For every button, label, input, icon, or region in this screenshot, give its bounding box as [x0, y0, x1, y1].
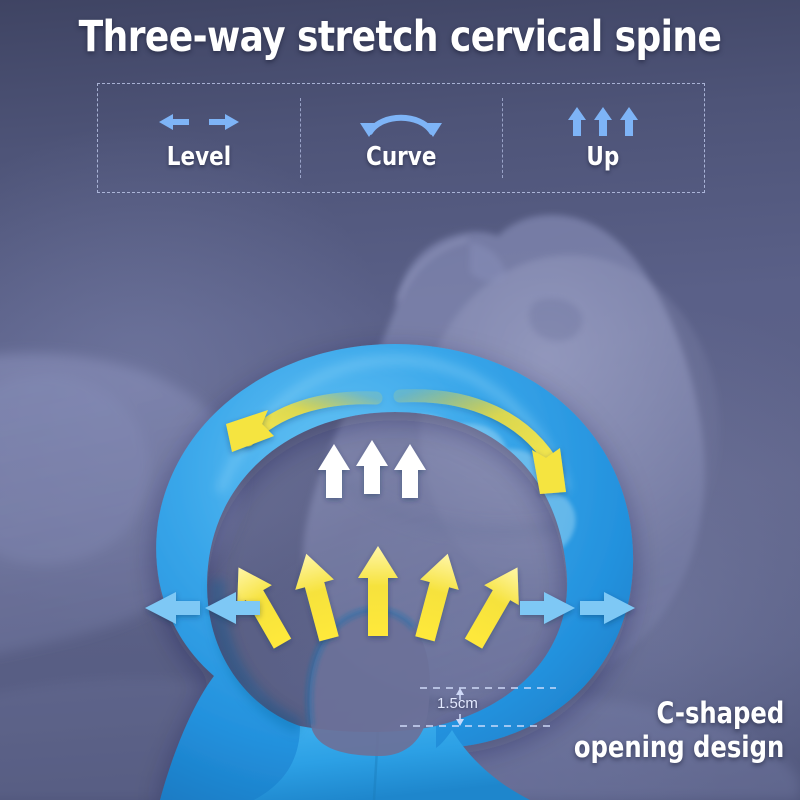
- brow-line: [398, 240, 468, 300]
- pillow-rim-highlight: [220, 360, 566, 492]
- mattress-shape: [0, 678, 260, 800]
- pillow-base: [254, 726, 530, 800]
- ambient-glow-left: [0, 120, 400, 640]
- neck-lift-arrows-icon: [318, 440, 426, 498]
- feature-badge-label: Curve: [366, 142, 436, 172]
- support-fan-arrows-icon: [221, 546, 535, 654]
- cervical-vertebrae-graphic: [238, 415, 575, 614]
- opening-edge-shadow: [309, 610, 414, 726]
- feature-badge-label: Up: [587, 142, 620, 172]
- page-title: Three-way stretch cervical spine: [28, 8, 772, 66]
- stretch-curve-arrows-icon: [226, 396, 566, 494]
- head-profile-shape: [303, 215, 720, 701]
- c-shaped-opening: [309, 610, 429, 756]
- left-right-arrows-icon: [153, 104, 245, 140]
- caption-line-2: opening design: [574, 730, 784, 764]
- caption-line-1: C-shaped: [574, 696, 784, 730]
- feature-badge-curve[interactable]: Curve: [300, 84, 502, 192]
- level-right-arrows-icon: [520, 592, 635, 624]
- product-infographic-poster: Three-way stretch cervical spine Level: [0, 0, 800, 800]
- feature-badge-label: Level: [167, 142, 231, 172]
- opening-inner-shadow: [218, 580, 300, 726]
- level-left-arrows-icon: [145, 592, 260, 624]
- dimension-guide-lines: [400, 688, 556, 726]
- nose-shape: [470, 242, 506, 282]
- lips-shape: [529, 299, 582, 342]
- three-up-arrows-icon: [565, 104, 641, 140]
- feature-caption: C-shaped opening design: [574, 696, 784, 764]
- dimension-value: 1.5cm: [437, 695, 478, 713]
- curved-double-arrow-icon: [352, 104, 450, 140]
- jaw-shadow: [330, 470, 580, 532]
- shoulder-shape: [0, 353, 241, 662]
- feature-badge-strip: Level Curve: [97, 83, 705, 193]
- pillow-body: [156, 344, 633, 800]
- feature-badge-up[interactable]: Up: [502, 84, 704, 192]
- pillow-seam: [374, 732, 378, 800]
- feature-badge-level[interactable]: Level: [98, 84, 300, 192]
